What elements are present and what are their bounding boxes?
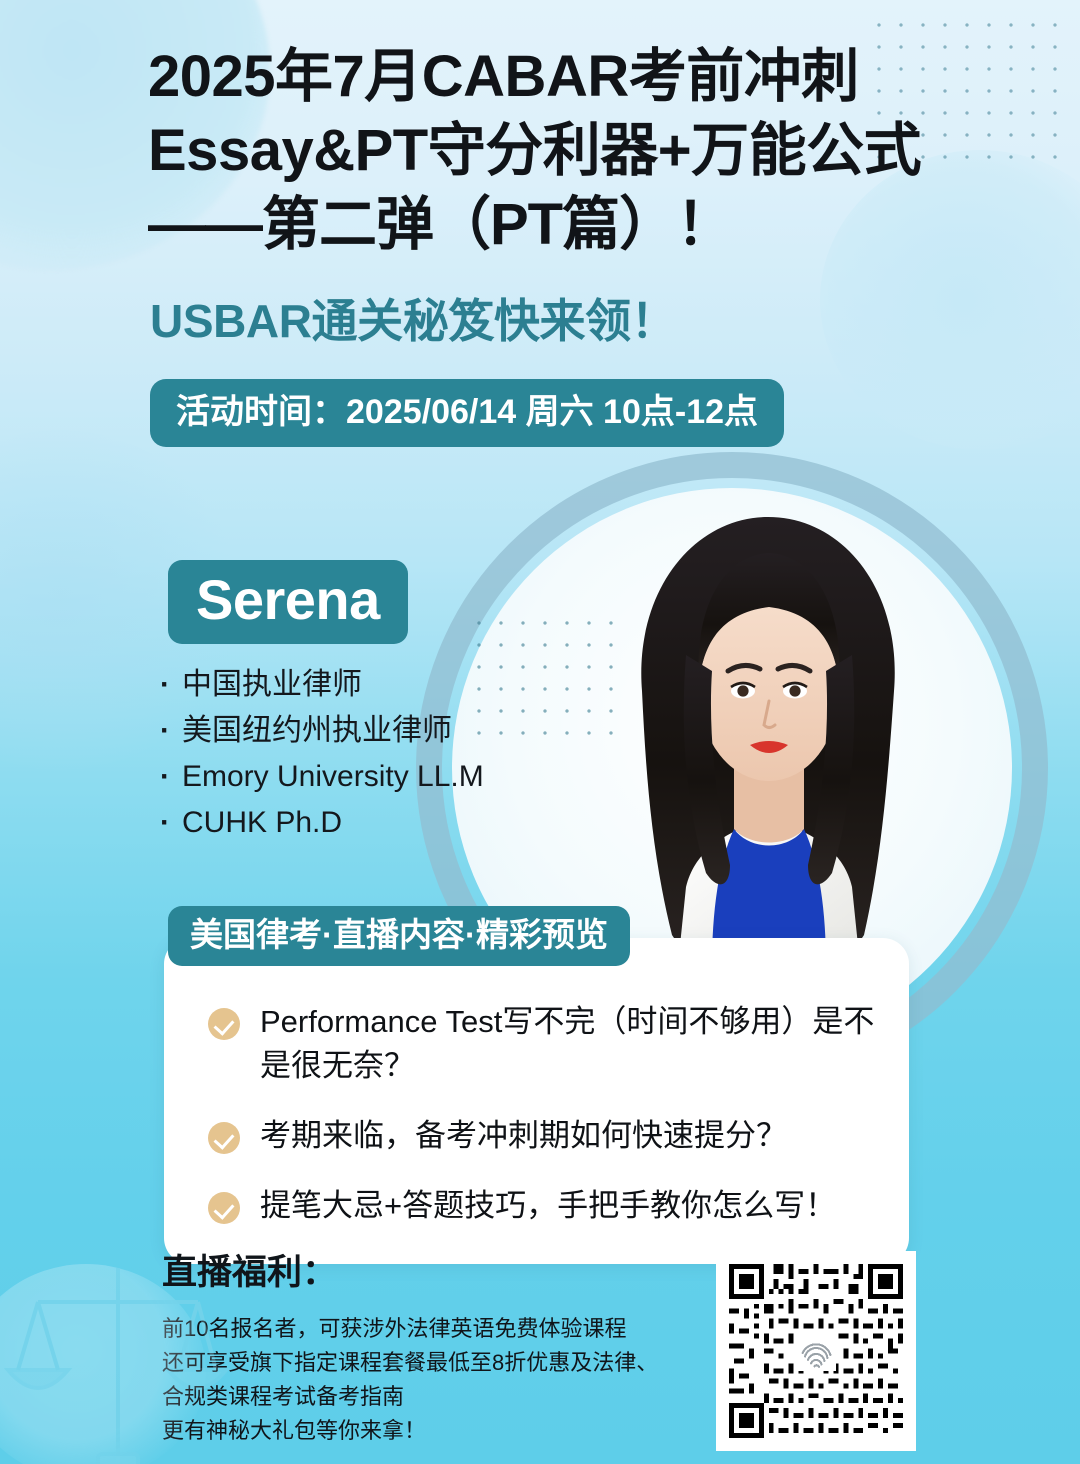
check-circle-icon bbox=[208, 1122, 240, 1154]
check-circle-icon bbox=[208, 1192, 240, 1224]
speaker-credentials: 中国执业律师 美国纽约州执业律师 Emory University LL.M C… bbox=[160, 662, 590, 846]
list-item: 提笔大忌+答题技巧，手把手教你怎么写！ bbox=[208, 1184, 883, 1228]
promotional-poster: 2025年7月CABAR考前冲刺 Essay&PT守分利器+万能公式 ——第二弹… bbox=[0, 0, 1080, 1464]
headline: 2025年7月CABAR考前冲刺 Essay&PT守分利器+万能公式 ——第二弹… bbox=[148, 40, 978, 262]
credential-item: Emory University LL.M bbox=[160, 754, 590, 800]
bullet-text: 考期来临，备考冲刺期如何快速提分？ bbox=[260, 1114, 787, 1158]
credential-item: 中国执业律师 bbox=[160, 662, 590, 708]
qr-code[interactable] bbox=[716, 1251, 916, 1451]
credential-item: 美国纽约州执业律师 bbox=[160, 708, 590, 754]
speaker-portrait bbox=[582, 495, 954, 965]
scales-of-justice-icon bbox=[0, 1230, 230, 1464]
benefits-line: 合规类课程考试备考指南 bbox=[162, 1380, 682, 1414]
benefits-line: 更有神秘大礼包等你来拿！ bbox=[162, 1414, 682, 1448]
bullet-text: Performance Test写不完（时间不够用）是不是很无奈？ bbox=[260, 1000, 883, 1088]
content-preview-badge: 美国律考·直播内容·精彩预览 bbox=[168, 906, 630, 966]
benefits-line: 前10名报名者，可获涉外法律英语免费体验课程 bbox=[162, 1312, 682, 1346]
speaker-name-badge: Serena bbox=[168, 560, 408, 644]
bullet-text: 提笔大忌+答题技巧，手把手教你怎么写！ bbox=[260, 1184, 836, 1228]
check-circle-icon bbox=[208, 1008, 240, 1040]
content-preview-card: Performance Test写不完（时间不够用）是不是很无奈？ 考期来临，备… bbox=[164, 938, 909, 1264]
list-item: Performance Test写不完（时间不够用）是不是很无奈？ bbox=[208, 1000, 883, 1088]
credential-item: CUHK Ph.D bbox=[160, 800, 590, 846]
benefits-line: 还可享受旗下指定课程套餐最低至8折优惠及法律、 bbox=[162, 1346, 682, 1380]
event-time-banner: 活动时间：2025/06/14 周六 10点-12点 bbox=[150, 379, 784, 447]
list-item: 考期来临，备考冲刺期如何快速提分？ bbox=[208, 1114, 883, 1158]
headline-line-2: Essay&PT守分利器+万能公式 bbox=[148, 114, 978, 188]
headline-line-1: 2025年7月CABAR考前冲刺 bbox=[148, 40, 978, 114]
subheadline: USBAR通关秘笈快来领！ bbox=[150, 293, 676, 349]
headline-line-3: ——第二弹（PT篇）！ bbox=[148, 188, 978, 262]
benefits-body: 前10名报名者，可获涉外法律英语免费体验课程 还可享受旗下指定课程套餐最低至8折… bbox=[162, 1312, 682, 1448]
